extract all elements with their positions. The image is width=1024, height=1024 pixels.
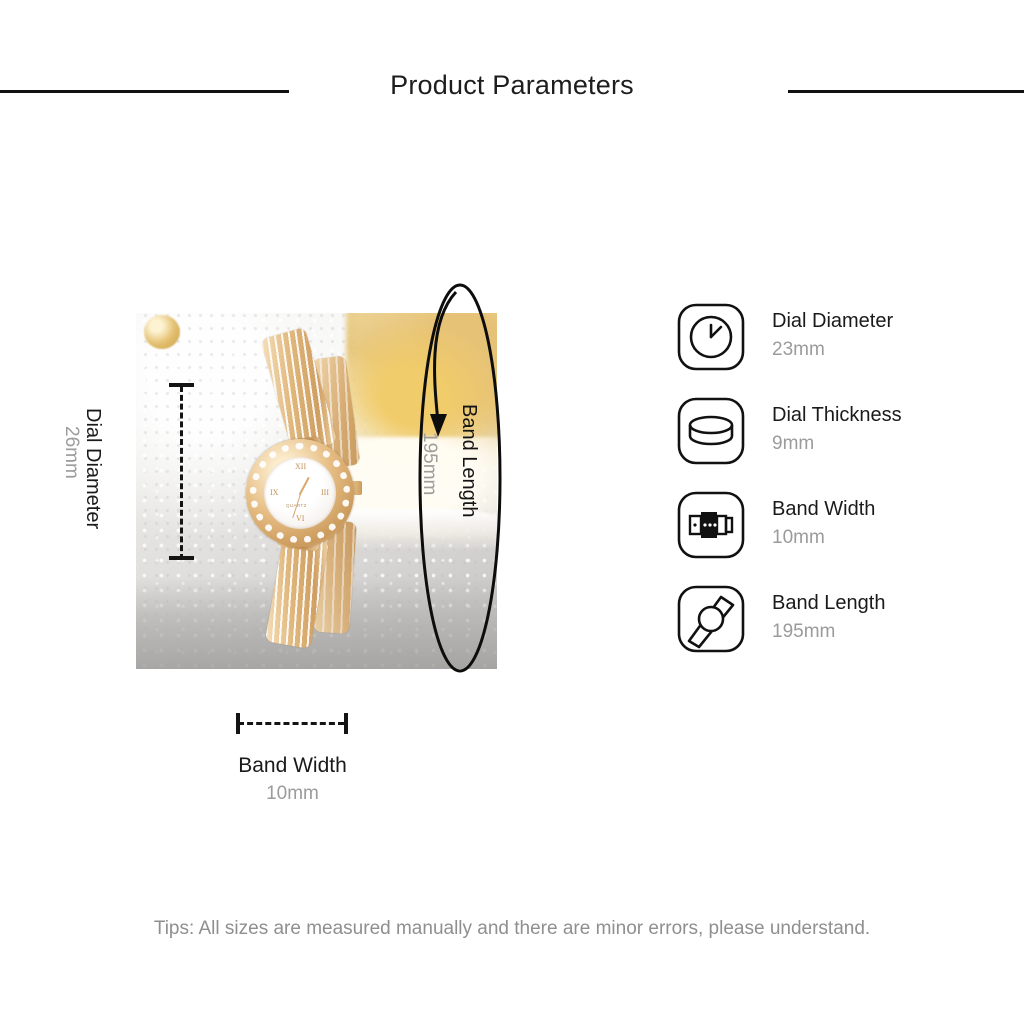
spec-value: 195mm — [772, 619, 885, 645]
watch-illustration: XII III VI IX QUARTZ — [224, 331, 424, 651]
band-width-dashed-line — [238, 722, 344, 725]
spec-label: Dial Diameter — [772, 308, 893, 334]
band-width-cap-right — [344, 713, 348, 734]
watch-dial: XII III VI IX QUARTZ — [264, 457, 336, 529]
spec-list: Dial Diameter 23mm Dial Thickness 9mm — [676, 302, 1006, 678]
photo-gold-bead — [144, 315, 180, 349]
spec-text-dial-diameter: Dial Diameter 23mm — [772, 308, 893, 363]
band-length-annotation-value: 195mm — [418, 432, 440, 495]
spec-label: Band Width — [772, 496, 875, 522]
spec-label: Dial Thickness — [772, 402, 902, 428]
watch-strap-diagonal-icon — [676, 584, 746, 654]
spec-text-dial-thickness: Dial Thickness 9mm — [772, 402, 902, 457]
band-length-annotation-label: Band Length — [457, 404, 480, 517]
dial-numeral-6: VI — [296, 514, 304, 523]
band-length-annotation — [398, 282, 510, 674]
header-rule-right — [788, 90, 1024, 93]
dial-diameter-measure-line — [160, 378, 204, 568]
spec-row-band-width: Band Width 10mm — [676, 490, 1006, 584]
dial-numeral-3: III — [321, 488, 329, 497]
dial-diameter-annotation-label: Dial Diameter — [81, 408, 104, 529]
watch-dial-icon — [676, 302, 746, 372]
band-length-ellipse-arrow — [398, 282, 510, 674]
measure-cap-bottom — [169, 556, 194, 560]
dial-numeral-12: XII — [295, 462, 306, 471]
band-width-annotation-value: 10mm — [180, 783, 405, 805]
band-width-annotation: Band Width 10mm — [180, 706, 405, 811]
spec-row-dial-diameter: Dial Diameter 23mm — [676, 302, 1006, 396]
page-header: Product Parameters — [0, 0, 1024, 140]
measure-dashed-line — [180, 386, 183, 560]
watch-case: XII III VI IX QUARTZ — [246, 439, 354, 547]
spec-text-band-width: Band Width 10mm — [772, 496, 875, 551]
spec-value: 10mm — [772, 525, 875, 551]
tips-note: Tips: All sizes are measured manually an… — [0, 918, 1024, 940]
spec-value: 9mm — [772, 431, 902, 457]
spec-value: 23mm — [772, 337, 893, 363]
spec-label: Band Length — [772, 590, 885, 616]
spec-row-band-length: Band Length 195mm — [676, 584, 1006, 678]
band-width-annotation-label: Band Width — [180, 754, 405, 778]
page-title: Product Parameters — [0, 70, 1024, 101]
dial-diameter-annotation-value: 26mm — [60, 426, 82, 479]
watch-band-buckle-icon — [676, 490, 746, 560]
disc-thickness-icon — [676, 396, 746, 466]
spec-row-dial-thickness: Dial Thickness 9mm — [676, 396, 1006, 490]
spec-text-band-length: Band Length 195mm — [772, 590, 885, 645]
dial-numeral-9: IX — [270, 488, 278, 497]
